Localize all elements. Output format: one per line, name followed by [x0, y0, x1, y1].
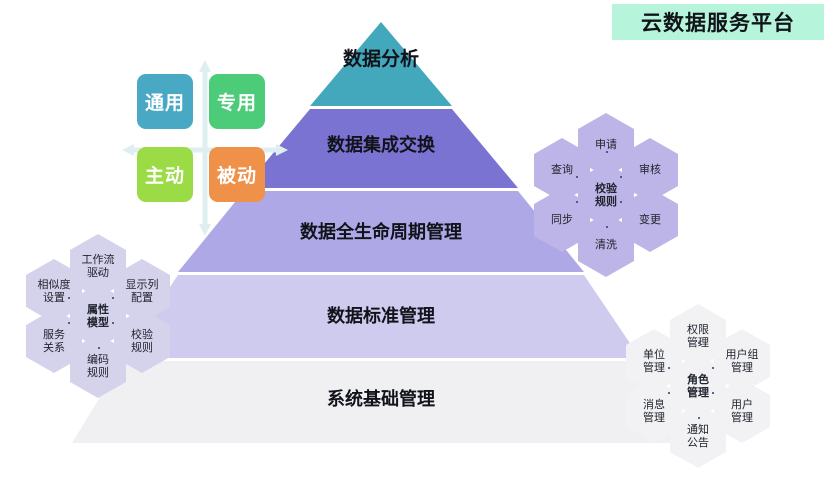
- page-title-banner: 云数据服务平台: [612, 4, 824, 40]
- page-title: 云数据服务平台: [641, 7, 795, 37]
- pyramid-layer-2-label: 数据集成交换: [271, 131, 491, 157]
- validation-rule-cluster: 校验规则 申请 审核 变更 清洗 同步 查询: [520, 110, 700, 290]
- diagram-canvas: 数据分析 数据集成交换 数据全生命周期管理 数据标准管理 系统基础管理 云数据服…: [0, 0, 834, 493]
- pyramid-layer-4-label: 数据标准管理: [271, 302, 491, 328]
- quadrant-box-dedicated[interactable]: 专用: [209, 74, 265, 129]
- attribute-model-cluster: 属性模型 工作流驱动 显示列配置 校验规则 编码规则 服务关系 相似度设置: [8, 216, 188, 416]
- quadrant-box-active[interactable]: 主动: [137, 147, 193, 202]
- role-management-cluster: 角色管理 权限管理 用户组管理 用户管理 通知公告 消息管理 单位管理: [608, 296, 798, 491]
- quadrant-box-passive[interactable]: 被动: [209, 147, 265, 202]
- pyramid-layer-1-label: 数据分析: [310, 44, 452, 71]
- pyramid-layer-5-label: 系统基础管理: [261, 385, 501, 411]
- quadrant-box-general[interactable]: 通用: [137, 74, 193, 129]
